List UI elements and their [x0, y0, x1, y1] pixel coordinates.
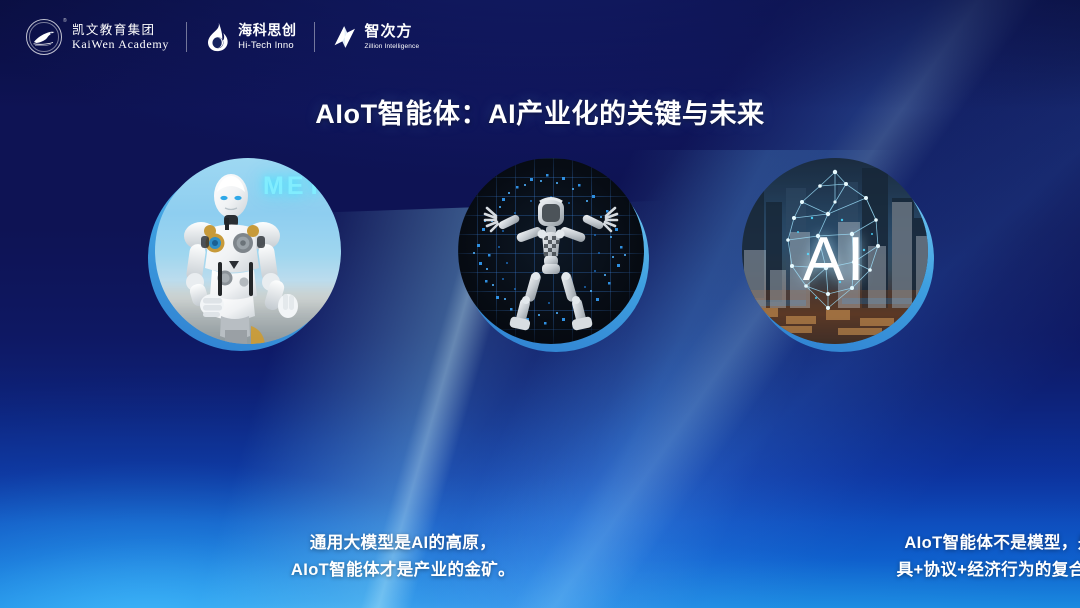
kaiwen-wordmark: 凯文教育集团 KaiWen Academy — [72, 23, 169, 51]
logo-divider-2 — [314, 22, 315, 52]
white-humanoid-robot-photo: MET — [155, 158, 341, 344]
logo-zillion-intelligence[interactable]: 智次方 Zillion Intelligence — [332, 24, 420, 50]
slide-title: AIoT智能体：AI产业化的关键与未来 — [0, 92, 1080, 131]
ai-city-network-photo: AI — [742, 158, 928, 344]
logo-bar: ® 凯文教育集团 KaiWen Academy 海科思创 Hi-Tech Inn… — [26, 17, 419, 57]
card-1-caption: 通用大模型是AI的高原， AIoT智能体才是产业的金矿。 — [253, 530, 553, 584]
hi-tech-wordmark: 海科思创 Hi-Tech Inno — [238, 22, 296, 51]
ai-overlay-text: AI — [742, 224, 928, 295]
kaiwen-name-en: KaiWen Academy — [72, 38, 169, 51]
logo-kaiwen-academy[interactable]: ® 凯文教育集团 KaiWen Academy — [26, 19, 169, 55]
card-2-caption: AIoT智能体不是模型，是工 具+协议+经济行为的复合体。 — [858, 530, 1080, 584]
zillion-name-cn: 智次方 — [365, 24, 420, 41]
card-2[interactable]: AIoT智能体不是模型，是工 具+协议+经济行为的复合体。 — [458, 158, 644, 344]
robot-figure-arms-out — [458, 158, 644, 344]
logo-divider-1 — [186, 22, 187, 52]
met-overlay-text: MET — [263, 172, 325, 201]
card-1[interactable]: MET 通用大模型是AI的高原， AIoT智能体才是产业的金矿。 — [155, 158, 341, 344]
hi-tech-name-cn: 海科思创 — [238, 22, 296, 38]
hi-tech-name-en: Hi-Tech Inno — [238, 41, 296, 52]
card-1-image-wrap: MET — [155, 158, 341, 344]
registered-mark: ® — [63, 18, 67, 24]
zillion-wordmark: 智次方 Zillion Intelligence — [365, 24, 420, 50]
robot-on-digital-grid-photo — [458, 158, 644, 344]
card-2-caption-line-1: AIoT智能体不是模型，是工 — [858, 530, 1080, 557]
slide-canvas: ® 凯文教育集团 KaiWen Academy 海科思创 Hi-Tech Inn… — [0, 0, 1080, 608]
card-1-caption-line-2: AIoT智能体才是产业的金矿。 — [253, 557, 553, 584]
card-2-image-wrap — [458, 158, 644, 344]
logo-hi-tech-inno[interactable]: 海科思创 Hi-Tech Inno — [204, 22, 296, 52]
card-1-caption-line-1: 通用大模型是AI的高原， — [253, 530, 553, 557]
zillion-name-en: Zillion Intelligence — [365, 43, 420, 50]
card-3-image-wrap: AI — [742, 158, 928, 344]
card-3[interactable]: AI 未来的AI，不是更聪明， 而是更能干、能协作、能收钱。 — [742, 158, 928, 344]
swan-crest-icon — [26, 19, 62, 55]
card-2-caption-line-2: 具+协议+经济行为的复合体。 — [858, 557, 1080, 584]
kaiwen-name-cn: 凯文教育集团 — [72, 23, 169, 37]
z-lightning-icon — [332, 24, 358, 50]
flame-icon — [204, 22, 231, 52]
